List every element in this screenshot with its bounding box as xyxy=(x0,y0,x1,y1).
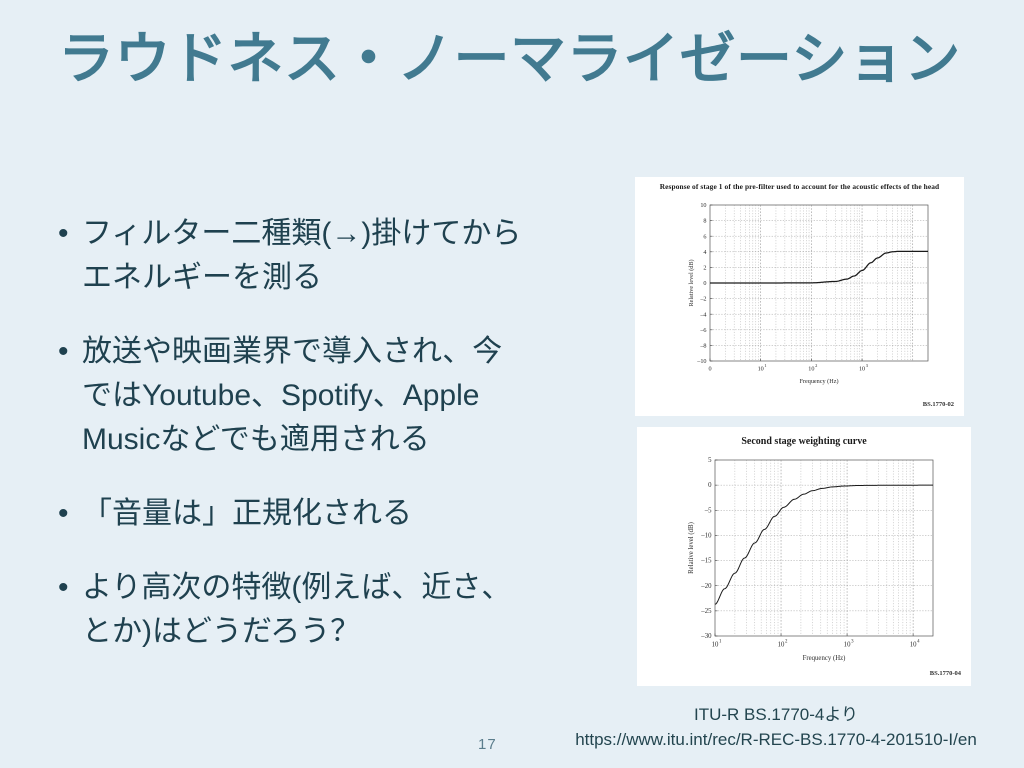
svg-text:10: 10 xyxy=(712,641,719,648)
bullet-marker-icon: • xyxy=(52,212,82,256)
figure-code-label: BS.1770-02 xyxy=(923,401,954,408)
chart-stage1: 1086420–2–4–6–8–100101102103Frequency (H… xyxy=(635,177,964,416)
source-line-1: ITU-R BS.1770-4より xyxy=(540,702,1012,727)
svg-text:Relative level (dB): Relative level (dB) xyxy=(688,259,695,306)
svg-text:0: 0 xyxy=(708,482,712,489)
bullet-text: 放送や映画業界で導入され、今 ではYoutube、Spotify、Apple M… xyxy=(82,330,562,462)
svg-text:1: 1 xyxy=(719,639,722,644)
svg-text:10: 10 xyxy=(910,641,917,648)
svg-text:1: 1 xyxy=(764,363,766,368)
svg-text:2: 2 xyxy=(785,639,788,644)
svg-text:10: 10 xyxy=(844,641,851,648)
svg-text:–8: –8 xyxy=(699,343,706,350)
svg-text:10: 10 xyxy=(778,641,785,648)
svg-text:–5: –5 xyxy=(704,507,712,514)
svg-text:10: 10 xyxy=(758,366,764,373)
svg-text:–20: –20 xyxy=(700,583,712,590)
list-item: • より高次の特徴(例えば、近さ、 とか)はどうだろう？ xyxy=(52,566,562,654)
svg-text:Frequency (Hz): Frequency (Hz) xyxy=(803,655,846,662)
bullet-marker-icon: • xyxy=(52,330,82,374)
svg-text:–10: –10 xyxy=(700,533,712,540)
svg-text:10: 10 xyxy=(700,202,706,209)
svg-text:3: 3 xyxy=(851,639,854,644)
figure-code-label: BS.1770-04 xyxy=(930,670,961,677)
svg-text:–25: –25 xyxy=(700,608,712,615)
page-title: ラウドネス・ノーマライゼーション xyxy=(58,26,978,92)
bullet-list: • フィルター二種類(→)掛けてから エネルギーを測る • 放送や映画業界で導入… xyxy=(52,212,562,654)
svg-text:2: 2 xyxy=(815,363,817,368)
svg-text:Frequency (Hz): Frequency (Hz) xyxy=(800,378,839,385)
svg-text:4: 4 xyxy=(703,249,706,256)
svg-text:3: 3 xyxy=(866,363,869,368)
source-caption: ITU-R BS.1770-4より https://www.itu.int/re… xyxy=(540,702,1012,752)
svg-text:4: 4 xyxy=(917,639,920,644)
list-item: • 放送や映画業界で導入され、今 ではYoutube、Spotify、Apple… xyxy=(52,330,562,462)
svg-text:–2: –2 xyxy=(699,296,706,303)
svg-text:10: 10 xyxy=(808,366,814,373)
source-line-2: https://www.itu.int/rec/R-REC-BS.1770-4-… xyxy=(540,727,1012,752)
svg-text:–15: –15 xyxy=(700,558,712,565)
svg-text:–10: –10 xyxy=(696,358,706,365)
svg-text:0: 0 xyxy=(703,280,706,287)
svg-text:2: 2 xyxy=(703,265,706,272)
figure-stage1-response: Response of stage 1 of the pre-filter us… xyxy=(635,177,964,416)
bullet-marker-icon: • xyxy=(52,566,82,610)
bullet-text: フィルター二種類(→)掛けてから エネルギーを測る xyxy=(82,212,562,300)
figure-stage2-weighting: Second stage weighting curve 50–5–10–15–… xyxy=(637,427,971,686)
svg-text:10: 10 xyxy=(859,366,865,373)
svg-text:5: 5 xyxy=(708,457,712,464)
svg-text:Relative level (dB): Relative level (dB) xyxy=(688,522,695,574)
svg-text:–6: –6 xyxy=(699,327,706,334)
svg-text:–30: –30 xyxy=(700,633,712,640)
slide-root: ラウドネス・ノーマライゼーション • フィルター二種類(→)掛けてから エネルギ… xyxy=(0,0,1024,768)
svg-text:–4: –4 xyxy=(699,311,706,318)
bullet-marker-icon: • xyxy=(52,492,82,536)
svg-text:6: 6 xyxy=(703,233,706,240)
svg-text:8: 8 xyxy=(703,218,706,225)
bullet-text: より高次の特徴(例えば、近さ、 とか)はどうだろう？ xyxy=(82,566,562,654)
svg-text:0: 0 xyxy=(708,366,711,373)
bullet-text: 「音量は」正規化される xyxy=(82,492,562,536)
page-number: 17 xyxy=(478,736,497,753)
chart-stage2: 50–5–10–15–20–25–30101102103104Frequency… xyxy=(637,427,971,686)
list-item: • フィルター二種類(→)掛けてから エネルギーを測る xyxy=(52,212,562,300)
list-item: • 「音量は」正規化される xyxy=(52,492,562,536)
